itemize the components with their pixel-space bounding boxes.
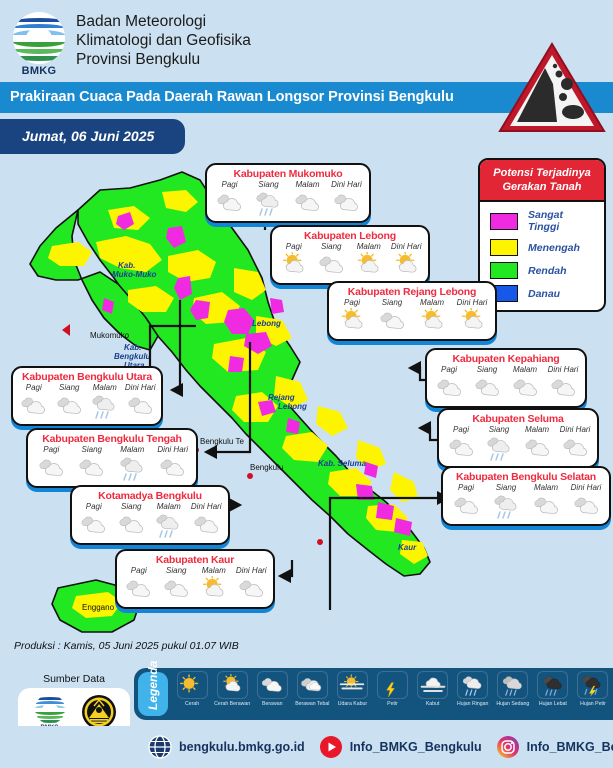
forecast-slot: Siang — [488, 483, 524, 520]
legend-item-label: Cerah Berawan — [212, 701, 252, 707]
berawan-icon — [113, 511, 149, 539]
svg-text:Enggano: Enggano — [82, 603, 115, 612]
berawan-icon — [188, 511, 224, 539]
berawan-icon — [329, 189, 365, 217]
forecast-card-region: Kabupaten Bengkulu Tengah — [28, 430, 196, 445]
pemerintah-provinsi-bengkulu-logo-icon — [81, 694, 117, 730]
hazard-label: Danau — [528, 288, 560, 300]
forecast-slot: Siang — [158, 566, 194, 603]
forecast-slot: Malam — [519, 425, 555, 462]
forecast-slot-label: Siang — [52, 383, 88, 392]
forecast-slot-label: Malam — [351, 242, 387, 251]
hazard-legend-item: Danau — [490, 285, 596, 302]
hujan-ringan-icon — [488, 492, 524, 520]
globe-icon — [148, 735, 172, 759]
bmkg-logo-icon: BMKG — [31, 694, 69, 731]
forecast-slot-label: Siang — [374, 298, 410, 307]
forecast-card-region: Kabupaten Kaur — [117, 551, 273, 566]
youtube-link[interactable]: Info_BMKG_Bengkulu — [319, 735, 482, 759]
hujan-ringan-icon — [251, 189, 287, 217]
forecast-slots: PagiSiangMalamDini Hari — [72, 502, 228, 543]
org-line-1: Badan Meteorologi — [76, 12, 251, 31]
legenda-tab-label: Legenda — [146, 680, 160, 710]
forecast-slot: Dini Hari — [557, 425, 593, 462]
instagram-label: Info_BMKG_Bengkulu — [527, 740, 613, 754]
berawan-icon — [545, 374, 581, 402]
forecast-slot: Malam — [507, 365, 543, 402]
berawan-icon — [313, 251, 349, 279]
produksi-timestamp: Produksi : Kamis, 05 Juni 2025 pukul 01.… — [14, 640, 239, 652]
forecast-slot-label: Malam — [507, 365, 543, 374]
hujan-ringan-icon — [151, 511, 187, 539]
forecast-card: Kotamadya BengkuluPagiSiangMalamDini Har… — [70, 485, 230, 545]
forecast-slot: Pagi — [448, 483, 484, 520]
instagram-link[interactable]: Info_BMKG_Bengkulu — [496, 735, 613, 759]
forecast-slot: Pagi — [276, 242, 312, 279]
website-link[interactable]: bengkulu.bmkg.go.id — [148, 735, 305, 759]
forecast-slot: Pagi — [16, 383, 52, 420]
legend-item: Berawan — [252, 671, 292, 707]
forecast-card-region: Kabupaten Rejang Lebong — [329, 283, 495, 298]
forecast-slot-label: Dini Hari — [388, 242, 424, 251]
berawan-icon — [568, 492, 604, 520]
forecast-slot-label: Dini Hari — [155, 445, 191, 454]
forecast-slot-label: Pagi — [16, 383, 52, 392]
forecast-slots: PagiSiangMalamDini Hari — [329, 298, 495, 339]
berawan-icon — [16, 392, 52, 420]
forecast-slot: Pagi — [33, 445, 69, 482]
svg-text:Kab.: Kab. — [124, 343, 141, 352]
forecast-slot-label: Malam — [114, 445, 150, 454]
forecast-slot-label: Dini Hari — [568, 483, 604, 492]
forecast-slot-label: Pagi — [448, 483, 484, 492]
forecast-slot: Siang — [313, 242, 349, 279]
hazard-legend-item: Sangat Tinggi — [490, 209, 596, 233]
forecast-slot: Siang — [374, 298, 410, 335]
forecast-slot-label: Pagi — [76, 502, 112, 511]
hujan-petir-icon — [577, 671, 608, 699]
forecast-card-region: Kabupaten Bengkulu Utara — [13, 368, 161, 383]
forecast-card: Kabupaten SelumaPagiSiangMalamDini Hari — [437, 408, 599, 468]
legend-item-label: Petir — [372, 701, 412, 707]
forecast-card: Kabupaten Bengkulu TengahPagiSiangMalamD… — [26, 428, 198, 488]
forecast-slot-label: Dini Hari — [454, 298, 490, 307]
hazard-swatch-sangat-tinggi — [490, 213, 518, 230]
forecast-slot-label: Malam — [519, 425, 555, 434]
forecast-card: Kabupaten Bengkulu UtaraPagiSiangMalamDi… — [11, 366, 163, 426]
svg-text:Muko-Muko: Muko-Muko — [112, 270, 157, 279]
berawan-icon — [519, 434, 555, 462]
cerah-icon — [177, 671, 208, 699]
forecast-slot-label: Pagi — [276, 242, 312, 251]
forecast-card-region: Kabupaten Mukomuko — [207, 165, 369, 180]
forecast-slot: Siang — [74, 445, 110, 482]
forecast-slot: Malam — [114, 445, 150, 482]
forecast-slot: Malam — [528, 483, 564, 520]
hazard-label: Rendah — [528, 265, 567, 277]
forecast-slot: Dini Hari — [329, 180, 365, 217]
forecast-slot-label: Malam — [196, 566, 232, 575]
legend-item-label: Udara Kabur — [332, 701, 372, 707]
forecast-slot-label: Dini Hari — [329, 180, 365, 189]
forecast-card-region: Kabupaten Bengkulu Selatan — [443, 468, 609, 483]
berawan-icon — [33, 454, 69, 482]
forecast-slot-label: Dini Hari — [188, 502, 224, 511]
cerah-berawan-icon — [217, 671, 248, 699]
svg-text:Kaur: Kaur — [398, 543, 417, 552]
hujan-ringan-icon — [114, 454, 150, 482]
forecast-slot: Dini Hari — [155, 445, 191, 482]
organization-title: Badan Meteorologi Klimatologi dan Geofis… — [76, 12, 251, 69]
forecast-card: Kabupaten Bengkulu SelatanPagiSiangMalam… — [441, 466, 611, 526]
svg-text:Bengkulu Te: Bengkulu Te — [200, 437, 244, 446]
forecast-slot: Siang — [113, 502, 149, 539]
forecast-slots: PagiSiangMalamDini Hari — [443, 483, 609, 524]
forecast-slot: Siang — [469, 365, 505, 402]
berawan-icon — [74, 454, 110, 482]
forecast-slots: PagiSiangMalamDini Hari — [28, 445, 196, 486]
cerah-berawan-icon — [351, 251, 387, 279]
svg-text:Bengkulu: Bengkulu — [114, 352, 151, 361]
date-badge: Jumat, 06 Juni 2025 — [0, 119, 185, 154]
forecast-slot: Pagi — [121, 566, 157, 603]
hazard-legend-items: Sangat Tinggi Menengah Rendah Danau — [480, 202, 604, 310]
forecast-slot-label: Pagi — [212, 180, 248, 189]
forecast-slot-label: Siang — [313, 242, 349, 251]
legend-item-label: Berawan — [252, 701, 292, 707]
bmkg-logo-icon: BMKG — [10, 12, 68, 74]
forecast-slot-label: Siang — [251, 180, 287, 189]
hazard-legend-title-line1: Potensi Terjadinya — [484, 166, 600, 180]
berawan-icon — [121, 575, 157, 603]
hujan-ringan-icon — [457, 671, 488, 699]
forecast-card: Kabupaten Rejang LebongPagiSiangMalamDin… — [327, 281, 497, 341]
hazard-label: Menengah — [528, 242, 580, 254]
hazard-legend-title-line2: Gerakan Tanah — [484, 180, 600, 194]
forecast-slot: Dini Hari — [454, 298, 490, 335]
legend-item-label: Berawan Tebal — [292, 701, 332, 707]
org-line-2: Klimatologi dan Geofisika — [76, 31, 251, 50]
legend-item-label: Cerah — [172, 701, 212, 707]
org-line-3: Provinsi Bengkulu — [76, 50, 251, 69]
forecast-slot-label: Dini Hari — [233, 566, 269, 575]
svg-text:Rejang: Rejang — [268, 393, 295, 402]
forecast-slot: Malam — [290, 180, 326, 217]
hazard-legend-item: Rendah — [490, 262, 596, 279]
forecast-slot: Siang — [481, 425, 517, 462]
forecast-slot: Siang — [251, 180, 287, 217]
social-footer: bengkulu.bmkg.go.id Info_BMKG_Bengkulu — [0, 726, 613, 768]
forecast-slot-label: Malam — [414, 298, 450, 307]
berawan-icon — [469, 374, 505, 402]
forecast-slot: Malam — [414, 298, 450, 335]
cerah-berawan-icon — [454, 307, 490, 335]
forecast-slot: Malam — [151, 502, 187, 539]
petir-icon — [377, 671, 408, 699]
legend-item: Cerah — [172, 671, 212, 707]
forecast-slot: Pagi — [76, 502, 112, 539]
landslide-warning-triangle-icon — [497, 40, 607, 135]
cerah-berawan-icon — [196, 575, 232, 603]
forecast-slot: Pagi — [443, 425, 479, 462]
forecast-card: Kabupaten MukomukoPagiSiangMalamDini Har… — [205, 163, 371, 223]
forecast-slot-label: Pagi — [121, 566, 157, 575]
legend-item-label: Kabut — [413, 701, 453, 707]
forecast-card-region: Kabupaten Kepahiang — [427, 350, 585, 365]
forecast-slot-label: Siang — [158, 566, 194, 575]
hazard-swatch-menengah — [490, 239, 518, 256]
forecast-slot: Dini Hari — [123, 383, 159, 420]
forecast-slots: PagiSiangMalamDini Hari — [207, 180, 369, 221]
legenda-tab: Legenda — [138, 672, 168, 716]
forecast-slot-label: Dini Hari — [123, 383, 159, 392]
berawan-tebal-icon — [297, 671, 328, 699]
berawan-icon — [233, 575, 269, 603]
svg-text:Mukomuko: Mukomuko — [90, 331, 130, 340]
hujan-sedang-icon — [497, 671, 528, 699]
cerah-berawan-icon — [414, 307, 450, 335]
legend-item-label: Hujan Ringan — [453, 701, 493, 707]
forecast-date: Jumat, 06 Juni 2025 — [22, 128, 154, 144]
forecast-slot: Dini Hari — [233, 566, 269, 603]
cerah-berawan-icon — [276, 251, 312, 279]
legenda-items: CerahCerah BerawanBerawanBerawan TebalUd… — [172, 671, 613, 717]
svg-text:Kab.: Kab. — [118, 261, 135, 270]
forecast-card: Kabupaten KaurPagiSiangMalamDini Hari — [115, 549, 275, 609]
berawan-icon — [443, 434, 479, 462]
hazard-label: Sangat Tinggi — [528, 209, 596, 233]
hazard-legend-header: Potensi Terjadinya Gerakan Tanah — [480, 160, 604, 202]
berawan-icon — [76, 511, 112, 539]
forecast-slot: Dini Hari — [568, 483, 604, 520]
berawan-icon — [158, 575, 194, 603]
berawan-icon — [557, 434, 593, 462]
berawan-icon — [52, 392, 88, 420]
legend-item: Hujan Ringan — [453, 671, 493, 707]
forecast-slot: Dini Hari — [545, 365, 581, 402]
forecast-card-region: Kabupaten Seluma — [439, 410, 597, 425]
infographic-page: BMKG Badan Meteorologi Klimatologi dan G… — [0, 0, 613, 768]
hujan-ringan-icon — [87, 392, 123, 420]
forecast-slot: Pagi — [334, 298, 370, 335]
forecast-slot-label: Siang — [113, 502, 149, 511]
forecast-slot: Pagi — [431, 365, 467, 402]
svg-text:Lebong: Lebong — [252, 319, 281, 328]
forecast-slot-label: Dini Hari — [545, 365, 581, 374]
forecast-slot-label: Pagi — [33, 445, 69, 454]
hazard-legend-panel: Potensi Terjadinya Gerakan Tanah Sangat … — [478, 158, 606, 312]
hujan-lebat-icon — [537, 671, 568, 699]
forecast-card: Kabupaten KepahiangPagiSiangMalamDini Ha… — [425, 348, 587, 408]
youtube-icon — [319, 735, 343, 759]
forecast-slots: PagiSiangMalamDini Hari — [439, 425, 597, 466]
cerah-berawan-icon — [388, 251, 424, 279]
svg-text:Bengkulu: Bengkulu — [250, 463, 283, 472]
legend-item-label: Hujan Sedang — [493, 701, 533, 707]
berawan-icon — [123, 392, 159, 420]
page-title: Prakiraan Cuaca Pada Daerah Rawan Longso… — [10, 89, 454, 105]
legend-item: Berawan Tebal — [292, 671, 332, 707]
berawan-icon — [257, 671, 288, 699]
berawan-icon — [507, 374, 543, 402]
berawan-icon — [374, 307, 410, 335]
sumber-data-title: Sumber Data — [18, 673, 130, 685]
forecast-slots: PagiSiangMalamDini Hari — [13, 383, 161, 424]
legend-item: Hujan Lebat — [533, 671, 573, 707]
legend-item: Hujan Petir — [573, 671, 613, 707]
forecast-slot-label: Dini Hari — [557, 425, 593, 434]
berawan-icon — [212, 189, 248, 217]
forecast-slot: Dini Hari — [388, 242, 424, 279]
youtube-label: Info_BMKG_Bengkulu — [350, 740, 482, 754]
legend-item: Udara Kabur — [332, 671, 372, 707]
hujan-ringan-icon — [481, 434, 517, 462]
legend-item-label: Hujan Lebat — [533, 701, 573, 707]
bmkg-logo-text: BMKG — [10, 65, 68, 77]
website-label: bengkulu.bmkg.go.id — [179, 740, 305, 754]
kabut-icon — [417, 671, 448, 699]
forecast-slot: Malam — [351, 242, 387, 279]
forecast-slots: PagiSiangMalamDini Hari — [117, 566, 273, 607]
forecast-slot: Pagi — [212, 180, 248, 217]
legend-item: Hujan Sedang — [493, 671, 533, 707]
forecast-slot-label: Pagi — [431, 365, 467, 374]
forecast-slot-label: Siang — [74, 445, 110, 454]
berawan-icon — [155, 454, 191, 482]
forecast-card-region: Kabupaten Lebong — [272, 227, 428, 242]
forecast-card: Kabupaten LebongPagiSiangMalamDini Hari — [270, 225, 430, 285]
svg-text:Kab. Seluma: Kab. Seluma — [318, 459, 367, 468]
forecast-slot-label: Pagi — [334, 298, 370, 307]
forecast-slot-label: Siang — [481, 425, 517, 434]
forecast-slot-label: Malam — [528, 483, 564, 492]
berawan-icon — [528, 492, 564, 520]
hazard-legend-item: Menengah — [490, 239, 596, 256]
legend-item: Cerah Berawan — [212, 671, 252, 707]
weather-legend-bar: Legenda CerahCerah BerawanBerawanBerawan… — [134, 668, 613, 720]
hazard-swatch-rendah — [490, 262, 518, 279]
forecast-slots: PagiSiangMalamDini Hari — [272, 242, 428, 283]
forecast-slot-label: Siang — [469, 365, 505, 374]
forecast-slot-label: Siang — [488, 483, 524, 492]
forecast-slot-label: Malam — [151, 502, 187, 511]
udara-kabur-icon — [337, 671, 368, 699]
forecast-slot-label: Malam — [87, 383, 123, 392]
berawan-icon — [290, 189, 326, 217]
forecast-slot: Siang — [52, 383, 88, 420]
forecast-slot: Dini Hari — [188, 502, 224, 539]
legend-item: Petir — [372, 671, 412, 707]
svg-text:Lebong: Lebong — [278, 402, 307, 411]
berawan-icon — [431, 374, 467, 402]
cerah-berawan-icon — [334, 307, 370, 335]
forecast-slots: PagiSiangMalamDini Hari — [427, 365, 585, 406]
berawan-icon — [448, 492, 484, 520]
forecast-slot-label: Pagi — [443, 425, 479, 434]
legend-item-label: Hujan Petir — [573, 701, 613, 707]
instagram-icon — [496, 735, 520, 759]
forecast-slot-label: Malam — [290, 180, 326, 189]
forecast-card-region: Kotamadya Bengkulu — [72, 487, 228, 502]
forecast-slot: Malam — [87, 383, 123, 420]
forecast-slot: Malam — [196, 566, 232, 603]
legend-item: Kabut — [413, 671, 453, 707]
